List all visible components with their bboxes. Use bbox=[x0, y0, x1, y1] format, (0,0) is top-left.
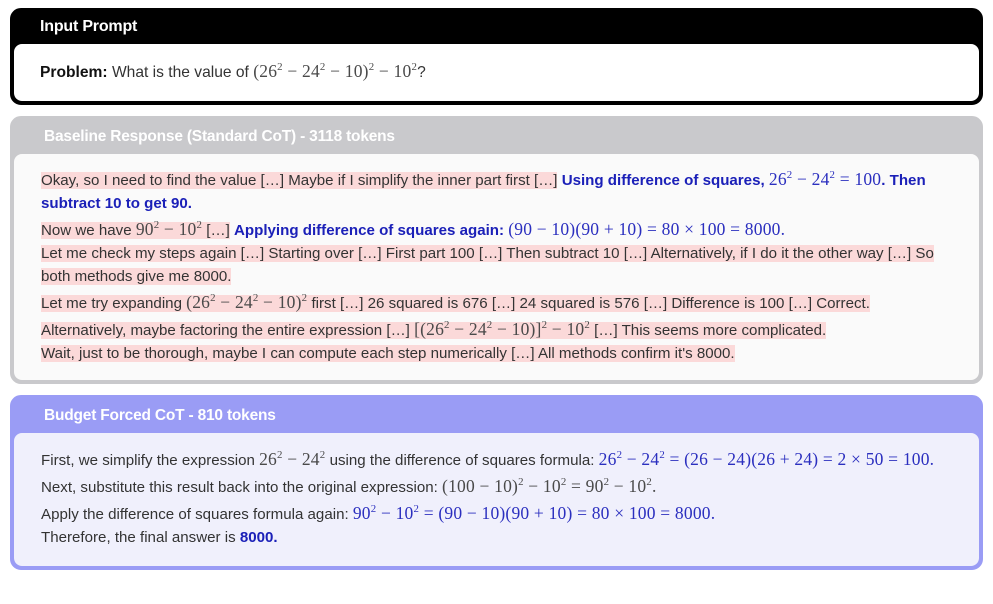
budget-final-answer: 8000. bbox=[240, 529, 278, 546]
baseline-paragraph-4: Let me try expanding (262 − 242 − 10)2 f… bbox=[41, 289, 952, 343]
baseline-p1-emphasis: Using difference of squares, bbox=[562, 172, 765, 189]
problem-text-before: What is the value of bbox=[112, 64, 249, 81]
baseline-p1-highlight: Okay, so I need to find the value […] Ma… bbox=[41, 172, 557, 189]
problem-text-after: ? bbox=[417, 64, 426, 81]
baseline-p3-highlight: Let me check my steps again […] Starting… bbox=[41, 245, 934, 285]
baseline-p5-highlight: Wait, just to be thorough, maybe I can c… bbox=[41, 345, 735, 362]
baseline-p4-highlight: Let me try expanding (262 − 242 − 10)2 f… bbox=[41, 295, 870, 339]
budget-p4-text: Therefore, the final answer is bbox=[41, 529, 236, 546]
baseline-p4-math-2: [(262 − 242 − 10)]2 − 102 bbox=[414, 319, 590, 339]
problem-expression: (262 − 242 − 10)2 − 102 bbox=[253, 61, 417, 81]
baseline-p2-text: Now we have bbox=[41, 222, 132, 239]
baseline-p2-emphasis: Applying difference of squares again: bbox=[234, 222, 504, 239]
baseline-p1-math: 262 − 242 = 100 bbox=[769, 169, 881, 189]
budget-p1-math-2: 262 − 242 = (26 − 24)(26 + 24) = 2 × 50 … bbox=[599, 449, 935, 469]
baseline-response-title: Baseline Response (Standard CoT) - 3118 … bbox=[14, 120, 979, 154]
baseline-p2-math-2: (90 − 10)(90 + 10) = 80 × 100 = 8000. bbox=[508, 219, 785, 239]
budget-forced-title: Budget Forced CoT - 810 tokens bbox=[14, 399, 979, 433]
budget-p1-text: First, we simplify the expression bbox=[41, 452, 255, 469]
budget-p2-math: (100 − 10)2 − 102 = 902 − 102. bbox=[442, 476, 656, 496]
budget-paragraph-2: Next, substitute this result back into t… bbox=[41, 473, 952, 500]
baseline-paragraph-3: Let me check my steps again […] Starting… bbox=[41, 243, 952, 289]
comparison-page: Input Prompt Problem: What is the value … bbox=[0, 0, 993, 604]
budget-forced-card: Budget Forced CoT - 810 tokens First, we… bbox=[10, 395, 983, 570]
baseline-p4-text-3: […] This seems more complicated. bbox=[594, 322, 826, 339]
budget-p1-text-2: using the difference of squares formula: bbox=[330, 452, 595, 469]
baseline-p4-math: (262 − 242 − 10)2 bbox=[186, 292, 307, 312]
budget-paragraph-3: Apply the difference of squares formula … bbox=[41, 500, 952, 527]
problem-label: Problem: bbox=[40, 64, 108, 81]
baseline-response-card: Baseline Response (Standard CoT) - 3118 … bbox=[10, 116, 983, 384]
input-prompt-title: Input Prompt bbox=[14, 12, 979, 44]
baseline-p2-highlight: Now we have 902 − 102 […] bbox=[41, 222, 230, 239]
budget-paragraph-1: First, we simplify the expression 262 − … bbox=[41, 446, 952, 473]
budget-p3-math: 902 − 102 = (90 − 10)(90 + 10) = 80 × 10… bbox=[353, 503, 715, 523]
budget-p1-math: 262 − 242 bbox=[259, 449, 325, 469]
input-prompt-body: Problem: What is the value of (262 − 242… bbox=[14, 44, 979, 101]
baseline-p2-math: 902 − 102 bbox=[136, 219, 202, 239]
baseline-response-body: Okay, so I need to find the value […] Ma… bbox=[14, 154, 979, 380]
budget-p2-text: Next, substitute this result back into t… bbox=[41, 479, 438, 496]
budget-paragraph-4: Therefore, the final answer is 8000. bbox=[41, 527, 952, 550]
input-prompt-card: Input Prompt Problem: What is the value … bbox=[10, 8, 983, 105]
budget-forced-body: First, we simplify the expression 262 − … bbox=[14, 433, 979, 566]
baseline-paragraph-5: Wait, just to be thorough, maybe I can c… bbox=[41, 343, 952, 366]
baseline-p2-ellipsis: […] bbox=[206, 222, 229, 239]
baseline-paragraph-2: Now we have 902 − 102 […] Applying diffe… bbox=[41, 216, 952, 243]
budget-p3-text: Apply the difference of squares formula … bbox=[41, 506, 349, 523]
problem-statement: Problem: What is the value of (262 − 242… bbox=[40, 58, 953, 85]
baseline-paragraph-1: Okay, so I need to find the value […] Ma… bbox=[41, 166, 952, 216]
baseline-p4-text: Let me try expanding bbox=[41, 295, 182, 312]
